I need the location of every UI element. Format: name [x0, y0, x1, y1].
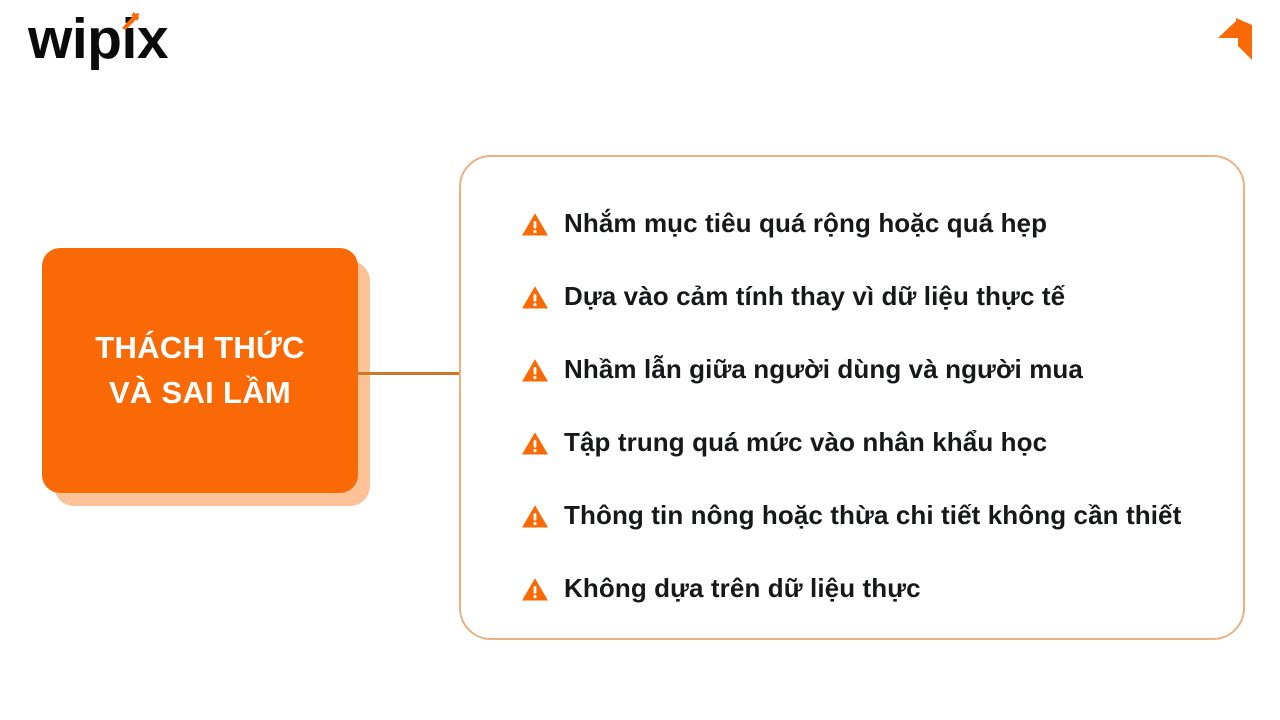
challenges-list-panel: Nhắm mục tiêu quá rộng hoặc quá hẹp Dựa … — [459, 155, 1245, 640]
challenges-label-card[interactable]: THÁCH THỨC VÀ SAI LẦM — [42, 248, 370, 506]
list-item[interactable]: Nhắm mục tiêu quá rộng hoặc quá hẹp — [520, 187, 1233, 260]
brand-logo-text: wipix — [28, 8, 168, 70]
list-item-label: Tập trung quá mức vào nhân khẩu học — [564, 428, 1047, 457]
arrow-up-right-icon — [119, 10, 141, 32]
challenges-list: Nhắm mục tiêu quá rộng hoặc quá hẹp Dựa … — [520, 187, 1233, 625]
warning-triangle-icon — [520, 355, 550, 385]
warning-triangle-icon — [520, 574, 550, 604]
list-item[interactable]: Tập trung quá mức vào nhân khẩu học — [520, 406, 1233, 479]
list-item[interactable]: Không dựa trên dữ liệu thực — [520, 552, 1233, 625]
warning-triangle-icon — [520, 428, 550, 458]
corner-arrow-icon — [1214, 16, 1256, 62]
warning-triangle-icon — [520, 501, 550, 531]
brand-logo: wipix — [28, 8, 248, 70]
label-card-title: THÁCH THỨC VÀ SAI LẦM — [81, 326, 319, 414]
list-item[interactable]: Nhầm lẫn giữa người dùng và người mua — [520, 333, 1233, 406]
list-item-label: Không dựa trên dữ liệu thực — [564, 574, 921, 603]
list-item-label: Dựa vào cảm tính thay vì dữ liệu thực tế — [564, 282, 1065, 311]
connector-line — [356, 372, 461, 375]
label-card-body[interactable]: THÁCH THỨC VÀ SAI LẦM — [42, 248, 358, 493]
warning-triangle-icon — [520, 209, 550, 239]
warning-triangle-icon — [520, 282, 550, 312]
list-item-label: Thông tin nông hoặc thừa chi tiết không … — [564, 501, 1181, 530]
list-item[interactable]: Thông tin nông hoặc thừa chi tiết không … — [520, 479, 1233, 552]
list-item-label: Nhầm lẫn giữa người dùng và người mua — [564, 355, 1083, 384]
list-item-label: Nhắm mục tiêu quá rộng hoặc quá hẹp — [564, 209, 1047, 238]
list-item[interactable]: Dựa vào cảm tính thay vì dữ liệu thực tế — [520, 260, 1233, 333]
